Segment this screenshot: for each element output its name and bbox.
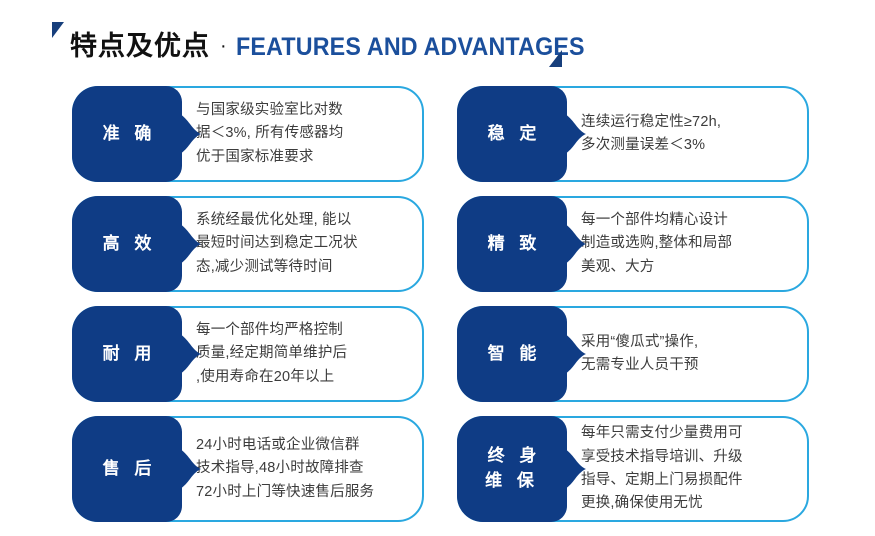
feature-card: 售 后 24小时电话或企业微信群 技术指导,48小时故障排查 72小时上门等快速… [72, 416, 424, 522]
feature-label: 售 后 [72, 416, 182, 522]
pointer-icon [180, 114, 202, 154]
feature-label-text: 终 身 维 保 [483, 444, 542, 493]
feature-label-text: 精 致 [483, 232, 542, 257]
feature-card: 耐 用 每一个部件均严格控制 质量,经定期简单维护后 ,使用寿命在20年以上 [72, 306, 424, 402]
feature-label-text: 准 确 [98, 122, 157, 147]
feature-description: 采用“傻瓜式”操作, 无需专业人员干预 [581, 331, 699, 378]
feature-description: 24小时电话或企业微信群 技术指导,48小时故障排查 72小时上门等快速售后服务 [196, 434, 374, 504]
feature-label: 稳 定 [457, 86, 567, 182]
features-grid: 准 确 与国家级实验室比对数 据＜3%, 所有传感器均 优于国家标准要求 稳 定… [0, 84, 875, 532]
feature-body: 每一个部件均精心设计 制造或选购,整体和局部 美观、大方 [581, 198, 793, 290]
pointer-icon [180, 224, 202, 264]
pointer-icon [565, 334, 587, 374]
pointer-icon [565, 224, 587, 264]
feature-label-text: 稳 定 [483, 122, 542, 147]
triangle-mark-bottom-right-icon [549, 50, 562, 67]
feature-label: 耐 用 [72, 306, 182, 402]
feature-description: 每一个部件均严格控制 质量,经定期简单维护后 ,使用寿命在20年以上 [196, 319, 347, 389]
feature-description: 每年只需支付少量费用可 享受技术指导培训、升级 指导、定期上门易损配件 更换,确… [581, 422, 743, 516]
pointer-icon [180, 334, 202, 374]
feature-card: 终 身 维 保 每年只需支付少量费用可 享受技术指导培训、升级 指导、定期上门易… [457, 416, 809, 522]
feature-description: 每一个部件均精心设计 制造或选购,整体和局部 美观、大方 [581, 209, 732, 279]
feature-body: 24小时电话或企业微信群 技术指导,48小时故障排查 72小时上门等快速售后服务 [196, 418, 408, 520]
page-header: 特点及优点 · FEATURES AND ADVANTAGES [52, 16, 592, 68]
feature-body: 每年只需支付少量费用可 享受技术指导培训、升级 指导、定期上门易损配件 更换,确… [581, 418, 793, 520]
feature-label: 终 身 维 保 [457, 416, 567, 522]
feature-card: 稳 定 连续运行稳定性≥72h, 多次测量误差＜3% [457, 86, 809, 182]
feature-label-text: 智 能 [483, 342, 542, 367]
feature-body: 系统经最优化处理, 能以 最短时间达到稳定工况状 态,减少测试等待时间 [196, 198, 408, 290]
feature-description: 连续运行稳定性≥72h, 多次测量误差＜3% [581, 111, 721, 158]
feature-label: 精 致 [457, 196, 567, 292]
feature-body: 采用“傻瓜式”操作, 无需专业人员干预 [581, 308, 793, 400]
feature-label-text: 售 后 [98, 457, 157, 482]
pointer-icon [565, 449, 587, 489]
feature-description: 与国家级实验室比对数 据＜3%, 所有传感器均 优于国家标准要求 [196, 99, 343, 169]
feature-description: 系统经最优化处理, 能以 最短时间达到稳定工况状 态,减少测试等待时间 [196, 209, 358, 279]
title-separator-dot: · [220, 35, 227, 58]
feature-card: 准 确 与国家级实验室比对数 据＜3%, 所有传感器均 优于国家标准要求 [72, 86, 424, 182]
triangle-mark-top-left-icon [52, 22, 64, 38]
feature-label: 高 效 [72, 196, 182, 292]
feature-label-text: 耐 用 [98, 342, 157, 367]
feature-card: 智 能 采用“傻瓜式”操作, 无需专业人员干预 [457, 306, 809, 402]
feature-label: 准 确 [72, 86, 182, 182]
feature-body: 连续运行稳定性≥72h, 多次测量误差＜3% [581, 88, 793, 180]
page-title-en: FEATURES AND ADVANTAGES [236, 33, 585, 62]
feature-card: 高 效 系统经最优化处理, 能以 最短时间达到稳定工况状 态,减少测试等待时间 [72, 196, 424, 292]
feature-label: 智 能 [457, 306, 567, 402]
feature-card: 精 致 每一个部件均精心设计 制造或选购,整体和局部 美观、大方 [457, 196, 809, 292]
header-title-group: 特点及优点 · FEATURES AND ADVANTAGES [70, 24, 611, 63]
feature-body: 与国家级实验室比对数 据＜3%, 所有传感器均 优于国家标准要求 [196, 88, 408, 180]
pointer-icon [565, 114, 587, 154]
pointer-icon [180, 449, 202, 489]
feature-body: 每一个部件均严格控制 质量,经定期简单维护后 ,使用寿命在20年以上 [196, 308, 408, 400]
page-title-cn: 特点及优点 [70, 24, 210, 63]
feature-label-text: 高 效 [98, 232, 157, 257]
